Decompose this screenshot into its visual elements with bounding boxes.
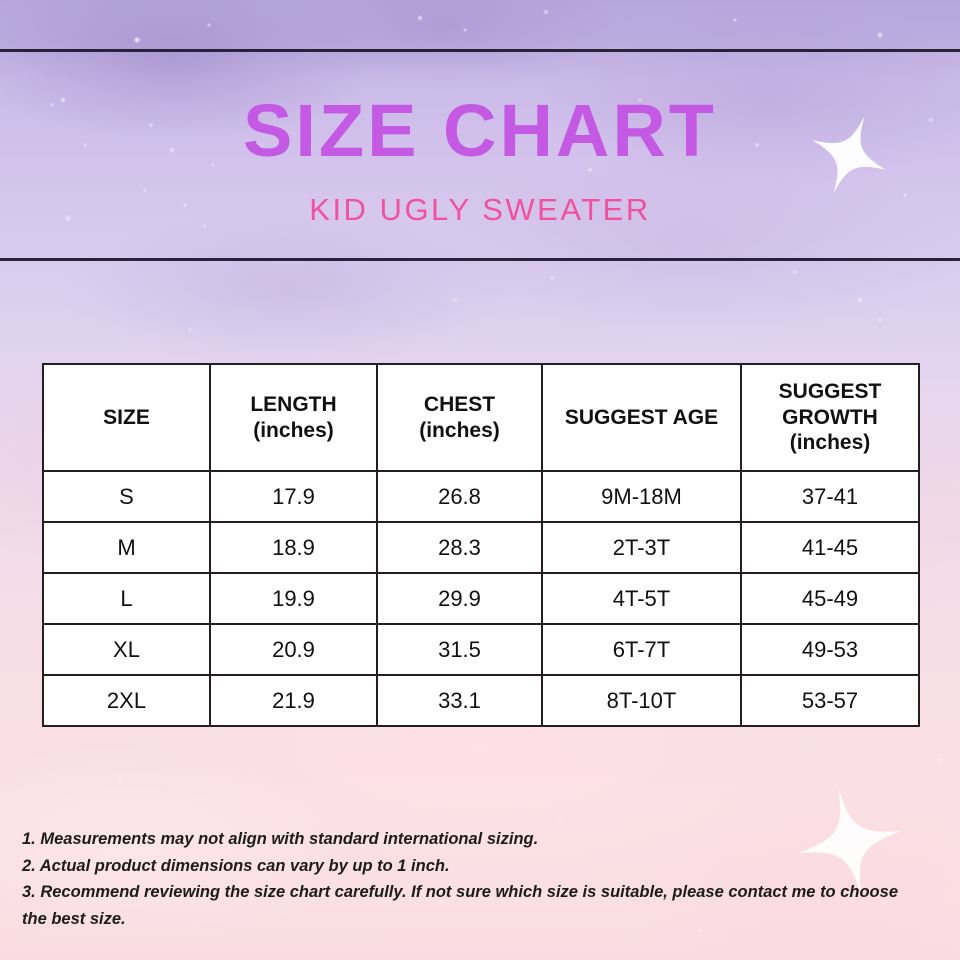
footnotes: 1. Measurements may not align with stand… <box>22 826 927 933</box>
column-header-suggest-age-label: SUGGEST AGE <box>565 406 718 429</box>
cell-size: 2XL <box>43 675 210 726</box>
cell-age: 4T-5T <box>542 573 741 624</box>
cell-length: 17.9 <box>210 471 377 522</box>
cell-chest: 33.1 <box>377 675 542 726</box>
column-header-chest: CHEST (inches) <box>377 364 542 471</box>
cell-growth: 45-49 <box>741 573 919 624</box>
column-header-suggest-growth-unit: (inches) <box>746 430 914 456</box>
cell-chest: 31.5 <box>377 624 542 675</box>
cell-length: 19.9 <box>210 573 377 624</box>
cell-chest: 29.9 <box>377 573 542 624</box>
table-row: 2XL 21.9 33.1 8T-10T 53-57 <box>43 675 919 726</box>
cell-length: 21.9 <box>210 675 377 726</box>
column-header-length: LENGTH (inches) <box>210 364 377 471</box>
footnote-3: 3. Recommend reviewing the size chart ca… <box>22 879 927 932</box>
column-header-size: SIZE <box>43 364 210 471</box>
table-row: M 18.9 28.3 2T-3T 41-45 <box>43 522 919 573</box>
page-title: SIZE CHART <box>243 94 717 168</box>
table-body: S 17.9 26.8 9M-18M 37-41 M 18.9 28.3 2T-… <box>43 471 919 726</box>
column-header-chest-unit: (inches) <box>382 418 537 444</box>
cell-length: 20.9 <box>210 624 377 675</box>
cell-growth: 53-57 <box>741 675 919 726</box>
table-row: S 17.9 26.8 9M-18M 37-41 <box>43 471 919 522</box>
cell-growth: 37-41 <box>741 471 919 522</box>
table-header-row: SIZE LENGTH (inches) CHEST (inches) SUGG… <box>43 364 919 471</box>
cell-length: 18.9 <box>210 522 377 573</box>
cell-size: S <box>43 471 210 522</box>
column-header-chest-label: CHEST <box>424 393 495 416</box>
cell-age: 8T-10T <box>542 675 741 726</box>
table-row: L 19.9 29.9 4T-5T 45-49 <box>43 573 919 624</box>
column-header-suggest-growth-label: SUGGEST GROWTH <box>779 380 882 429</box>
table-header: SIZE LENGTH (inches) CHEST (inches) SUGG… <box>43 364 919 471</box>
page-subtitle: KID UGLY SWEATER <box>309 194 650 225</box>
cell-size: M <box>43 522 210 573</box>
cell-age: 6T-7T <box>542 624 741 675</box>
cell-size: XL <box>43 624 210 675</box>
column-header-size-label: SIZE <box>103 406 150 429</box>
cell-chest: 26.8 <box>377 471 542 522</box>
table-row: XL 20.9 31.5 6T-7T 49-53 <box>43 624 919 675</box>
column-header-suggest-growth: SUGGEST GROWTH (inches) <box>741 364 919 471</box>
size-chart-table: SIZE LENGTH (inches) CHEST (inches) SUGG… <box>42 363 920 727</box>
cell-growth: 41-45 <box>741 522 919 573</box>
cell-chest: 28.3 <box>377 522 542 573</box>
banner-bottom-divider <box>0 258 960 261</box>
footnote-2: 2. Actual product dimensions can vary by… <box>22 853 927 880</box>
column-header-suggest-age: SUGGEST AGE <box>542 364 741 471</box>
column-header-length-label: LENGTH <box>250 393 336 416</box>
footnote-1: 1. Measurements may not align with stand… <box>22 826 927 853</box>
cell-age: 2T-3T <box>542 522 741 573</box>
column-header-length-unit: (inches) <box>215 418 372 444</box>
cell-age: 9M-18M <box>542 471 741 522</box>
cell-growth: 49-53 <box>741 624 919 675</box>
cell-size: L <box>43 573 210 624</box>
header-banner: SIZE CHART KID UGLY SWEATER <box>0 52 960 258</box>
